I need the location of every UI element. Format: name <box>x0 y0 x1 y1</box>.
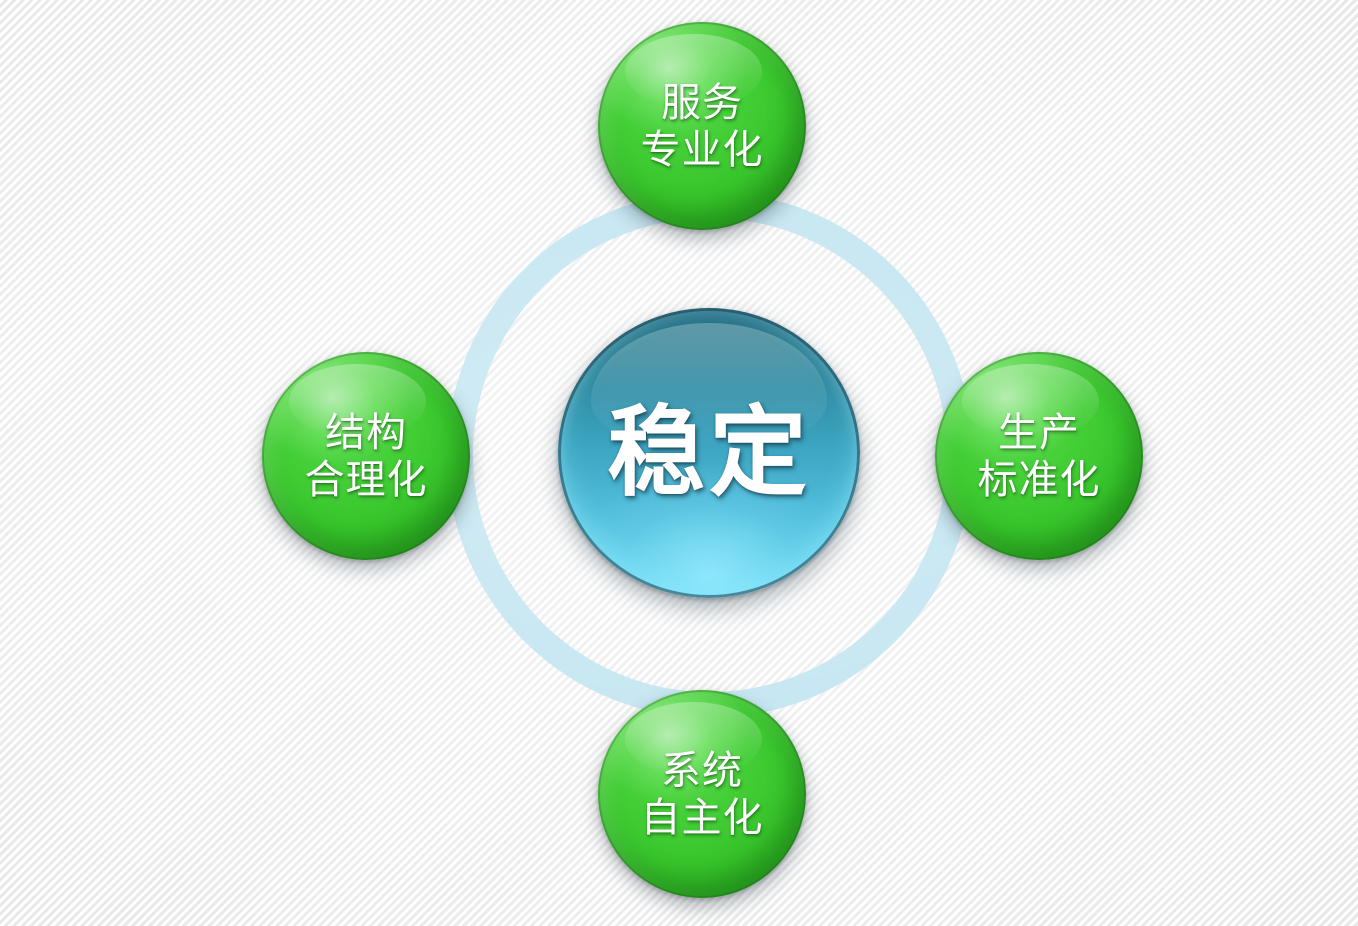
node-right-label: 生产 标准化 <box>978 409 1101 503</box>
node-bottom[interactable]: 系统 自主化 <box>598 690 806 898</box>
node-top[interactable]: 服务 专业化 <box>598 22 806 230</box>
node-right[interactable]: 生产 标准化 <box>935 352 1143 560</box>
node-bottom-label: 系统 自主化 <box>641 747 764 841</box>
node-left-label: 结构 合理化 <box>305 409 428 503</box>
diagram-canvas: 稳定 服务 专业化 生产 标准化 系统 自主化 结构 合理化 <box>0 0 1358 926</box>
center-node-label: 稳定 <box>607 402 811 505</box>
node-left[interactable]: 结构 合理化 <box>262 352 470 560</box>
node-top-label: 服务 专业化 <box>641 79 764 173</box>
center-node[interactable]: 稳定 <box>558 308 860 598</box>
